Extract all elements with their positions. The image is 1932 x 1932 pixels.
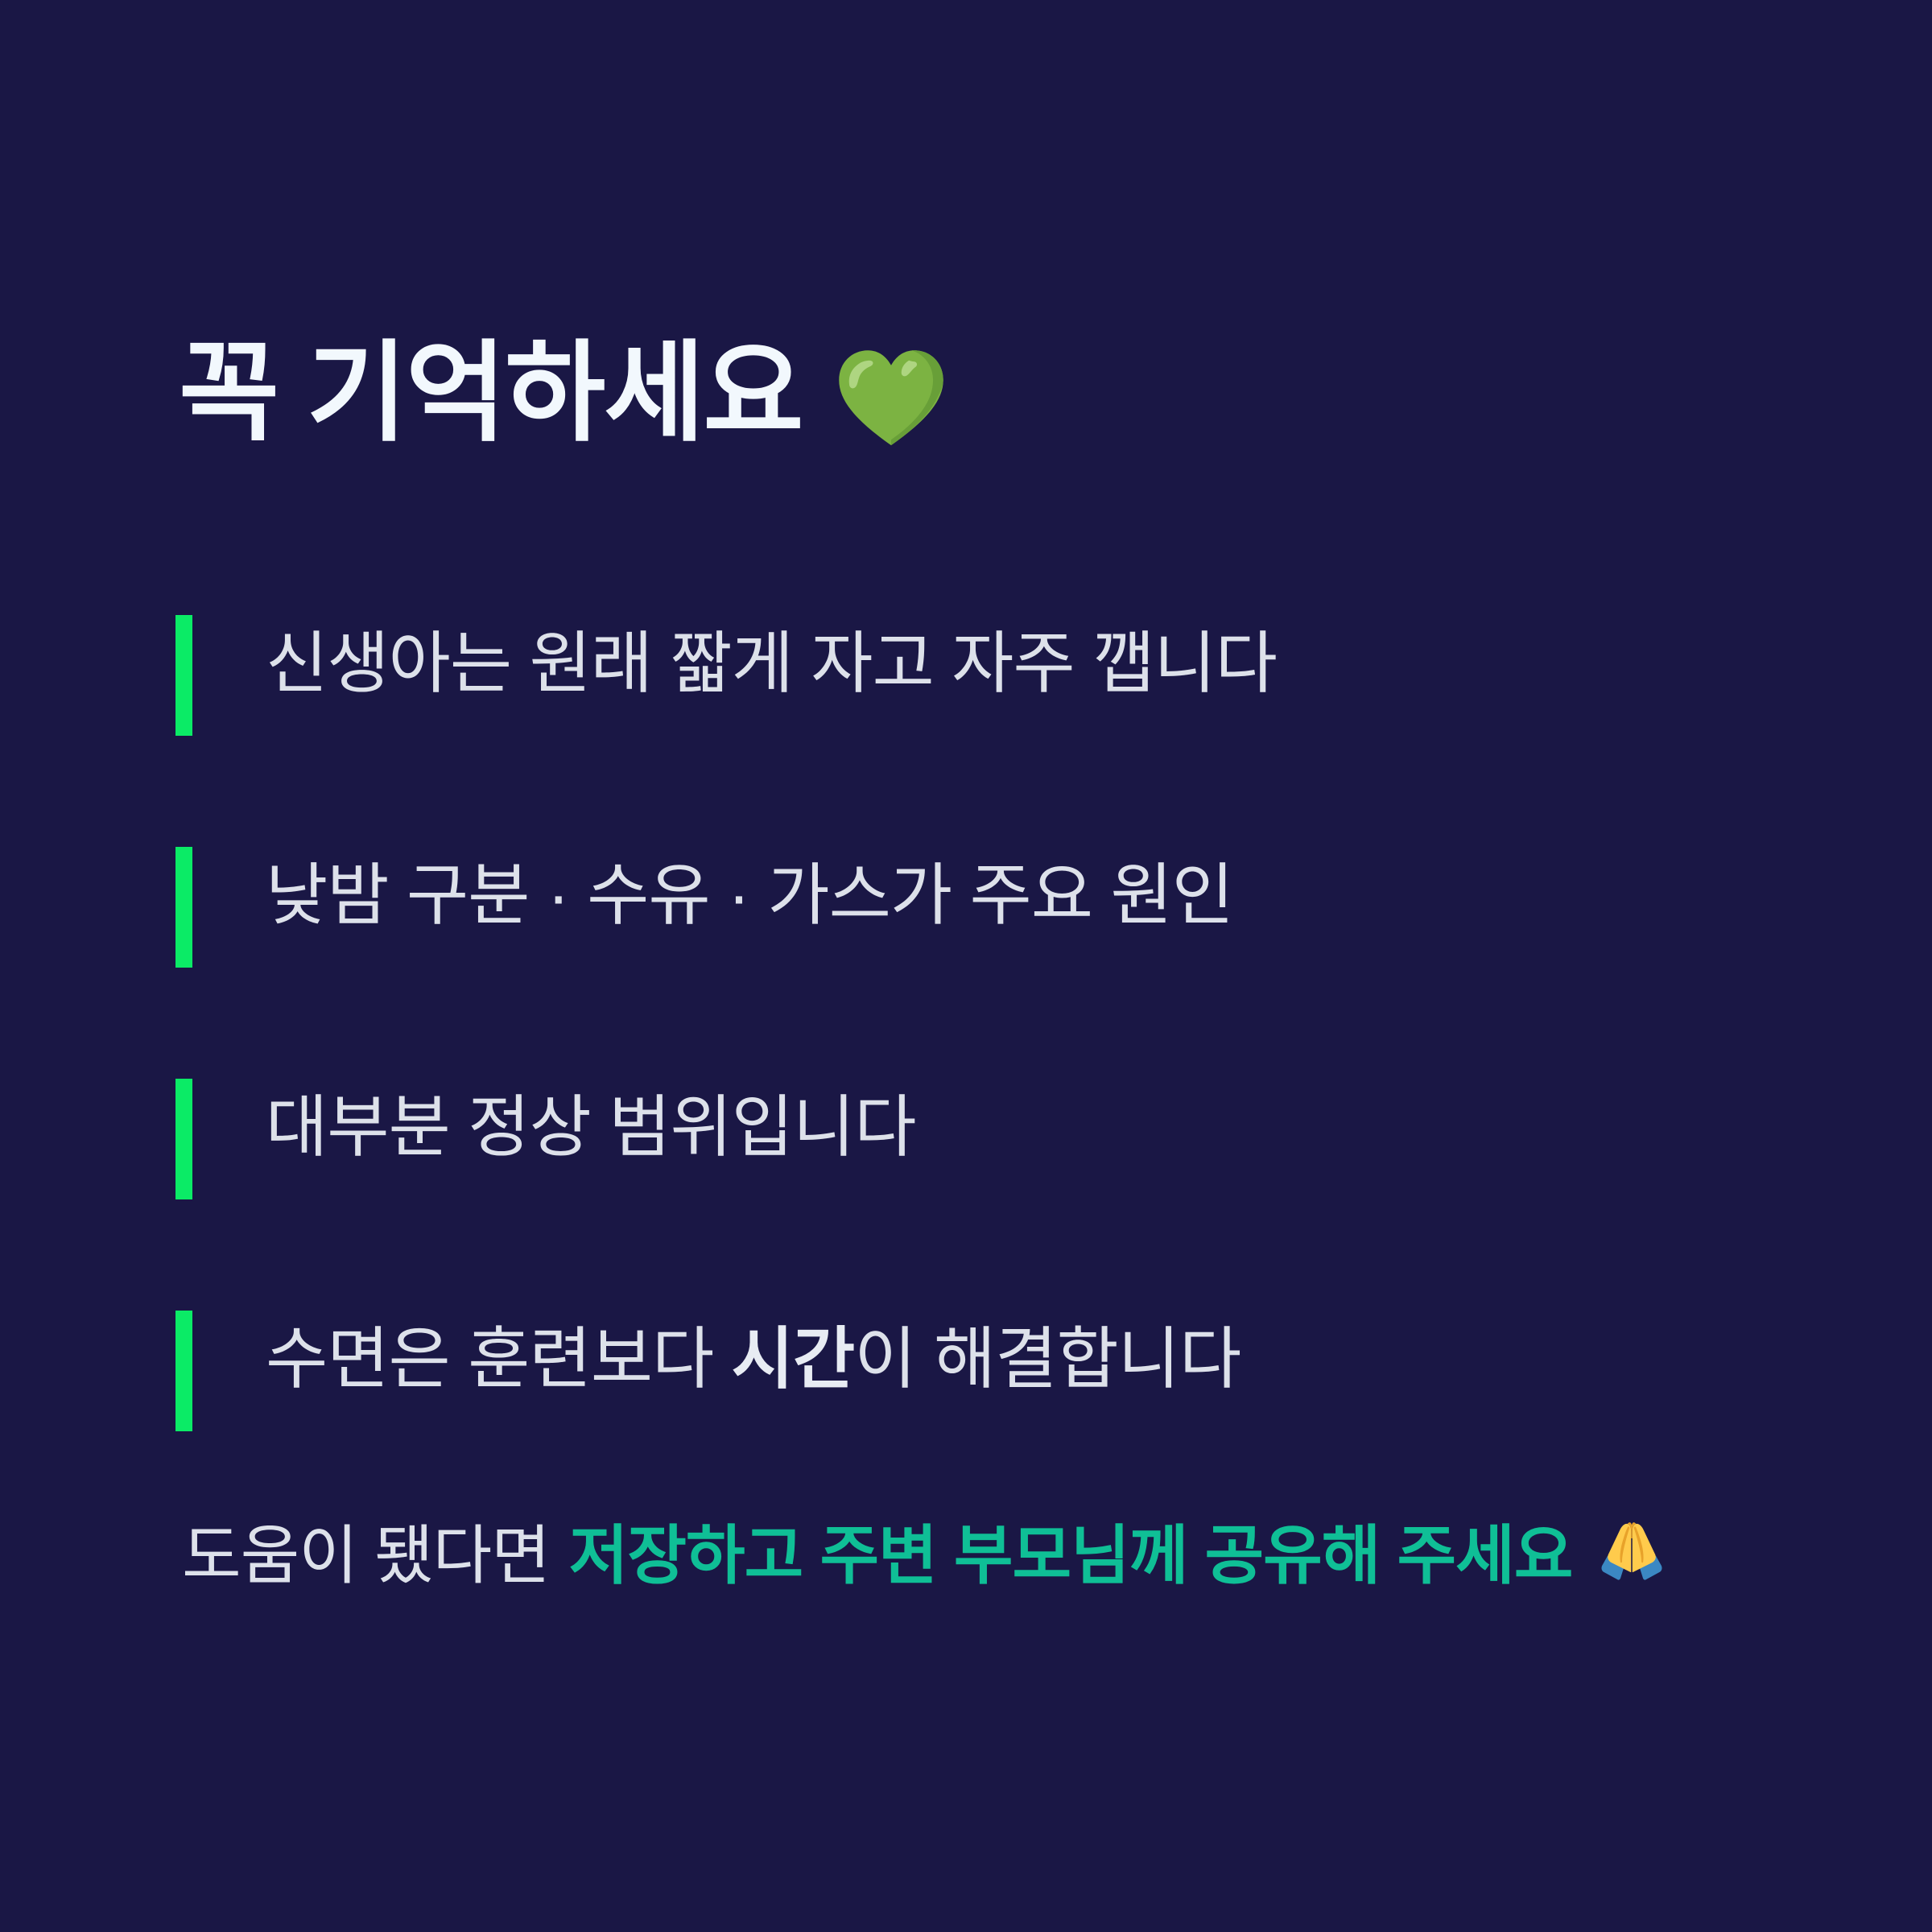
share-cta: 도움이 됐다면 저장하고 주변 부모님께 공유해 주세요	[182, 1494, 1670, 1607]
accent-bar-icon	[175, 847, 192, 968]
cta-lead-text: 도움이 됐다면	[182, 1504, 550, 1597]
list-item-label-suffix: 이 해결합니다	[854, 1321, 1241, 1397]
list-item-label: 신생아는 원래 짧게 자고 자주 깹니다	[266, 604, 1277, 697]
list-item: 대부분 정상 범위입니다	[175, 1067, 1834, 1299]
accent-bar-icon	[175, 615, 192, 736]
list-item: 낮밤 구분 · 수유 · 가스가 주요 원인	[175, 836, 1834, 1067]
list-item-label: 낮밤 구분 · 수유 · 가스가 주요 원인	[266, 836, 1233, 929]
page-title-text: 꼭 기억하세요	[179, 338, 803, 448]
cta-highlight-text: 저장하고 주변 부모님께 공유해 주세요	[569, 1504, 1573, 1597]
bullet-list: 신생아는 원래 짧게 자고 자주 깹니다 낮밤 구분 · 수유 · 가스가 주요…	[175, 604, 1834, 1531]
info-card: 꼭 기억하세요 신생아는 원래 짧게 자고 자주 깹니다 낮밤 구분 · 수유 …	[0, 0, 1932, 1932]
list-item-label: 수면은 훈련보다 시간이 해결합니다	[266, 1299, 1241, 1393]
page-title: 꼭 기억하세요	[179, 312, 951, 473]
list-item-label-prefix: 수면은 훈련보다	[266, 1321, 732, 1397]
accent-bar-icon	[175, 1079, 192, 1199]
accent-bar-icon	[175, 1311, 192, 1431]
list-item: 신생아는 원래 짧게 자고 자주 깹니다	[175, 604, 1834, 836]
list-item-label: 대부분 정상 범위입니다	[266, 1067, 915, 1161]
green-heart-icon	[832, 329, 951, 456]
list-item-label-emphasis: 시간	[732, 1321, 855, 1397]
folded-hands-icon	[1572, 1509, 1670, 1591]
